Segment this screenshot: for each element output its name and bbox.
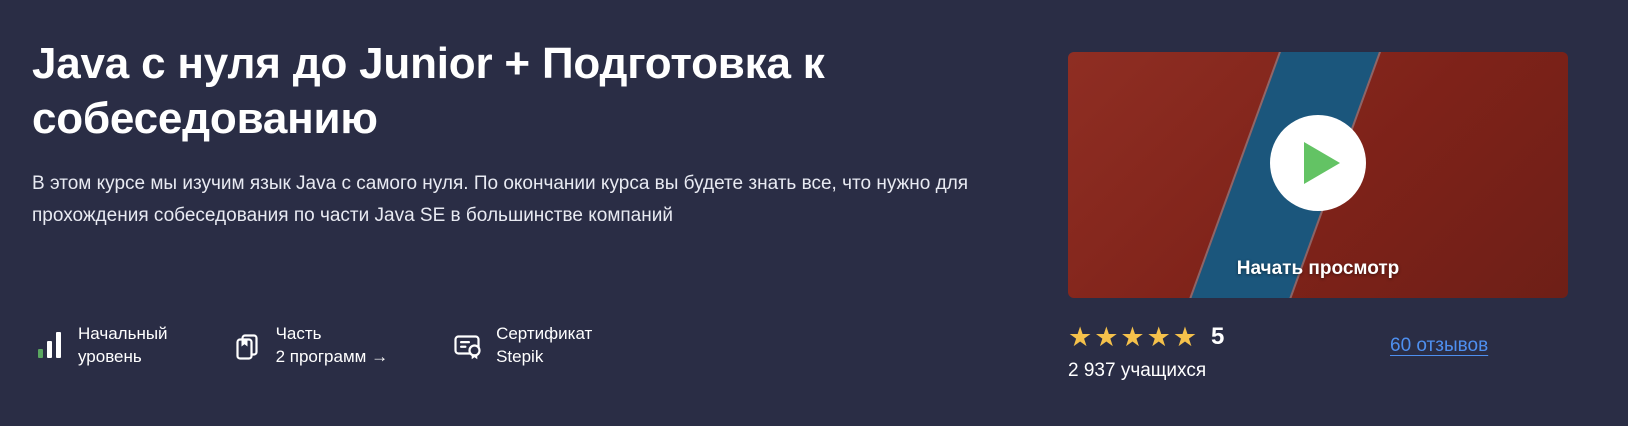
video-caption: Начать просмотр: [1068, 258, 1568, 280]
rating-value: 5: [1211, 322, 1224, 352]
feature-part-label: Часть 2 программ →: [276, 322, 389, 368]
course-hero: Java с нуля до Junior + Подготовка к соб…: [0, 0, 1628, 426]
feature-part-of-programs[interactable]: Часть 2 программ →: [230, 322, 389, 368]
rating-row: ★★★★★ 5: [1068, 322, 1224, 352]
feature-part-line2: 2 программ →: [276, 345, 389, 368]
feature-certificate: Сертификат Stepik: [450, 322, 592, 368]
feature-level-line2: уровень: [78, 345, 168, 368]
learners-count: 2 937 учащихся: [1068, 359, 1224, 383]
page-title: Java с нуля до Junior + Подготовка к соб…: [32, 36, 972, 146]
reviews-link[interactable]: 60 отзывов: [1390, 334, 1488, 358]
documents-stack-icon: [230, 326, 264, 364]
course-summary: В этом курсе мы изучим язык Java с самог…: [32, 168, 972, 232]
play-button[interactable]: [1270, 115, 1366, 211]
certificate-icon: [450, 326, 484, 364]
course-info-column: Java с нуля до Junior + Подготовка к соб…: [32, 0, 992, 426]
feature-level-label: Начальный уровень: [78, 322, 168, 368]
feature-certificate-label: Сертификат Stepik: [496, 322, 592, 368]
feature-level-line1: Начальный: [78, 322, 168, 345]
play-icon: [1304, 142, 1340, 184]
level-bars-icon: [32, 326, 66, 364]
course-features: Начальный уровень Часть 2 программ →: [32, 322, 592, 368]
feature-level: Начальный уровень: [32, 322, 168, 368]
feature-certificate-line1: Сертификат: [496, 322, 592, 345]
feature-certificate-line2: Stepik: [496, 345, 592, 368]
rating-block: ★★★★★ 5 2 937 учащихся: [1068, 322, 1224, 383]
feature-part-line1: Часть: [276, 322, 389, 345]
star-rating-icons: ★★★★★: [1068, 322, 1199, 352]
video-preview-card[interactable]: Начать просмотр: [1068, 52, 1568, 298]
course-media-column: Начать просмотр ★★★★★ 5 2 937 учащихся 6…: [1068, 0, 1568, 426]
